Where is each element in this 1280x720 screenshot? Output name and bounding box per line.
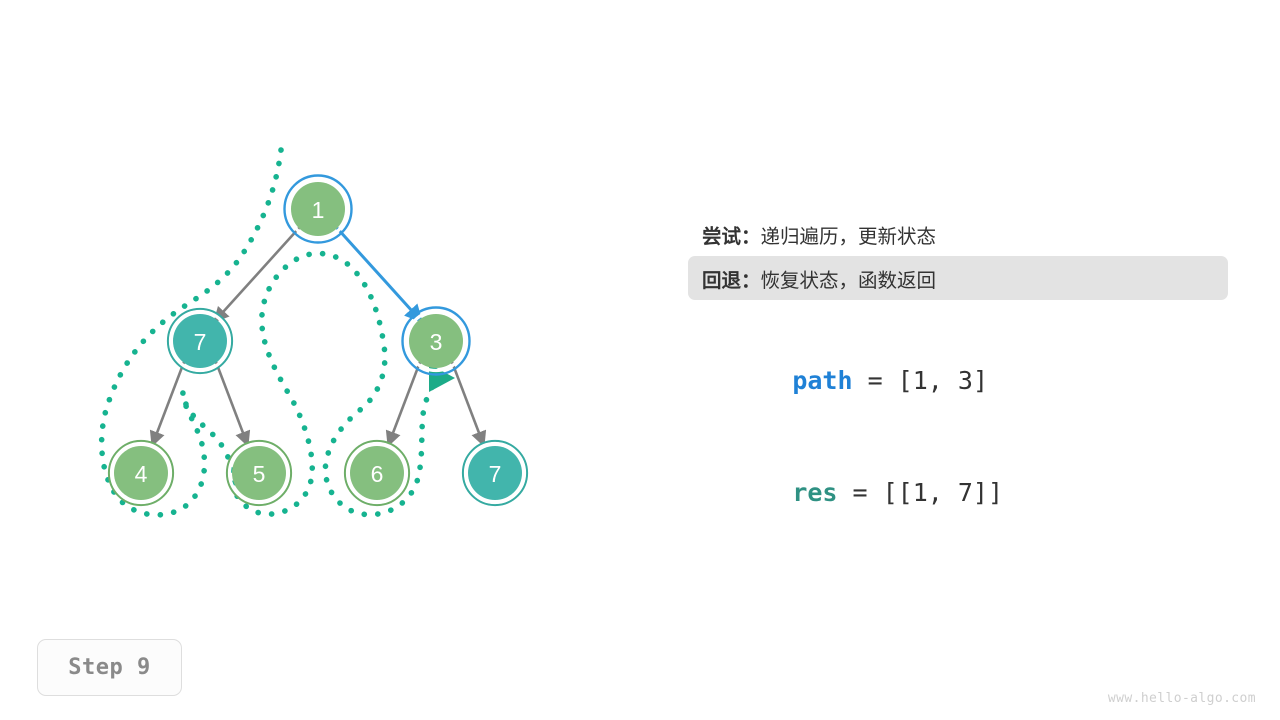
operation-row-try: 尝试： 递归遍历，更新状态: [688, 212, 1228, 256]
illustration-canvas: 1 7 3 4: [0, 0, 1280, 720]
state-var-path: path: [792, 366, 852, 395]
step-badge-label: Step 9: [68, 655, 150, 680]
tree-node-3[interactable]: 3: [403, 308, 470, 375]
tree-node-3-label: 3: [430, 329, 443, 355]
edge-3-7b: [452, 362, 484, 446]
tree-node-7-left-label: 7: [194, 329, 207, 355]
operation-try-value: 递归遍历，更新状态: [761, 220, 937, 249]
tree-node-6[interactable]: 6: [345, 441, 409, 505]
edge-7-5: [216, 362, 248, 446]
tree-node-4[interactable]: 4: [109, 441, 173, 505]
tree-node-1[interactable]: 1: [285, 176, 352, 243]
operation-backtrack-value: 恢复状态，函数返回: [761, 264, 937, 293]
tree-node-5[interactable]: 5: [227, 441, 291, 505]
state-line-res: res = [[1, 7]]: [688, 424, 1228, 470]
edge-7-4: [152, 362, 184, 446]
state-expr-res: = [[1, 7]]: [837, 478, 1003, 507]
state-var-res: res: [792, 478, 837, 507]
watermark: www.hello-algo.com: [1108, 691, 1256, 706]
state-line-path: path = [1, 3]: [688, 312, 1228, 358]
edge-3-6: [388, 362, 420, 446]
tree-node-7-right-label: 7: [489, 461, 502, 487]
operation-row-backtrack: 回退： 恢复状态，函数返回: [688, 256, 1228, 300]
edge-1-3: [337, 228, 422, 322]
tree-node-7-right[interactable]: 7: [463, 441, 527, 505]
step-badge: Step 9: [37, 639, 182, 696]
tree-node-1-label: 1: [312, 197, 325, 223]
tree-node-7-left[interactable]: 7: [168, 309, 232, 373]
algorithm-state-panel: 尝试： 递归遍历，更新状态 回退： 恢复状态，函数返回 path = [1, 3…: [688, 212, 1228, 470]
trace-cursor-arrow: [429, 364, 455, 392]
binary-tree-diagram: 1 7 3 4: [0, 0, 640, 600]
tree-node-6-label: 6: [371, 461, 384, 487]
state-expr-path: = [1, 3]: [853, 366, 988, 395]
tree-nodes: 1 7 3 4: [109, 176, 527, 506]
tree-node-4-label: 4: [135, 461, 148, 487]
operation-try-key: 尝试：: [702, 220, 761, 249]
tree-node-5-label: 5: [253, 461, 266, 487]
operation-backtrack-key: 回退：: [702, 264, 761, 293]
